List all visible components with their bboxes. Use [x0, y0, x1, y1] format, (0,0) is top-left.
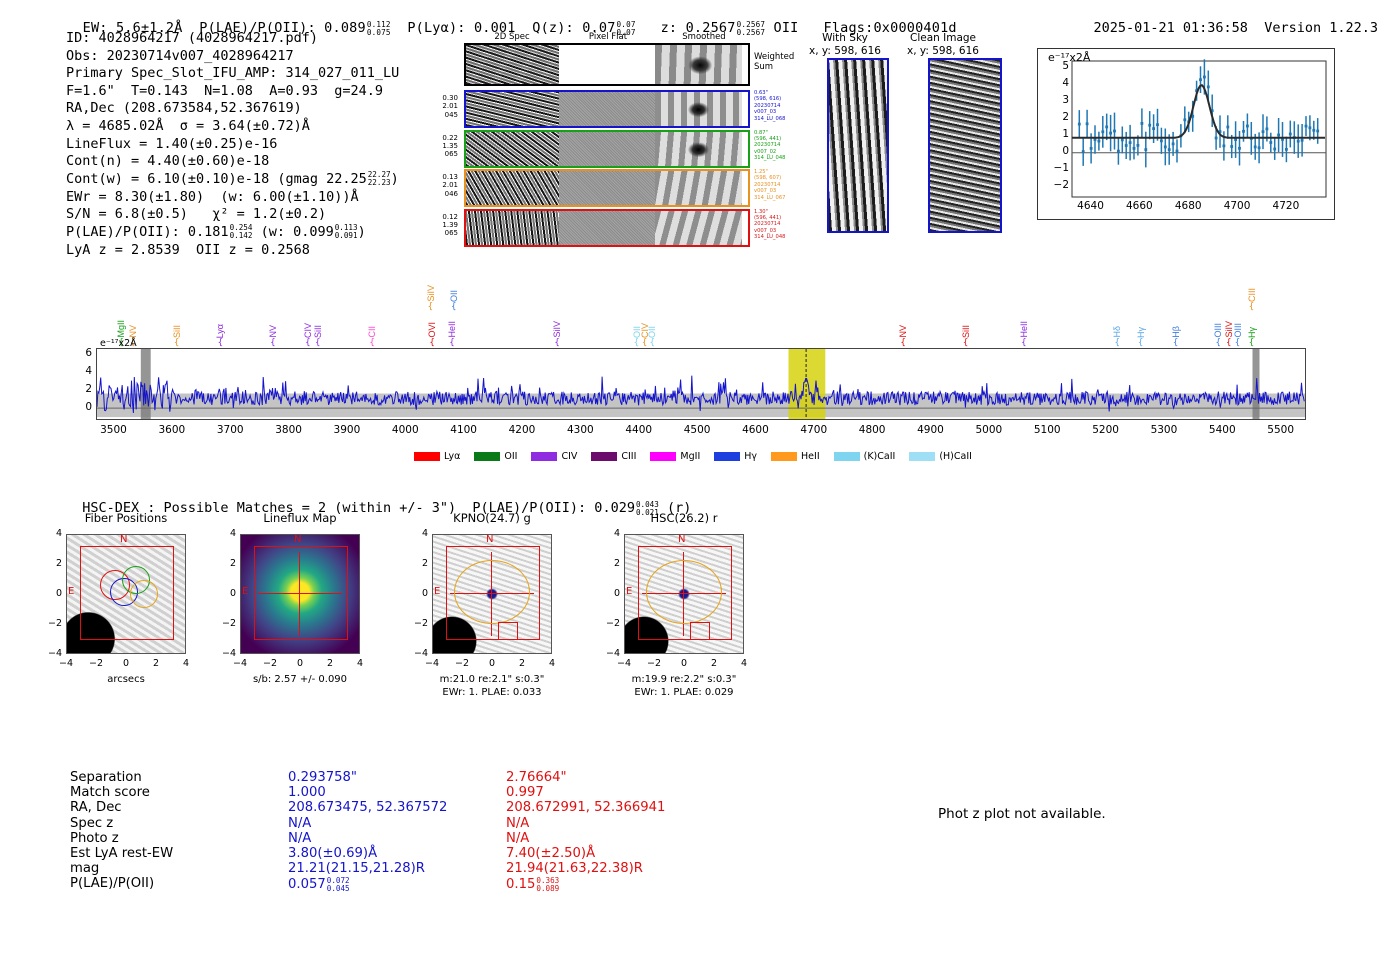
emission-line-bracket: { — [305, 338, 311, 348]
panel-y-tick: −2 — [412, 618, 428, 629]
panel-caption-secondary: EWr: 1. PLAE: 0.029 — [594, 687, 774, 700]
panel-image[interactable] — [432, 534, 552, 654]
spectrum-x-tick: 3700 — [206, 424, 254, 436]
fiber-right-labels: 0.87"(596, 441)20230714v007_02314_LU_048 — [754, 130, 814, 162]
row-value-blue: 1.000 — [288, 785, 506, 800]
row-label: RA, Dec — [70, 800, 288, 815]
legend-item: CIV — [531, 451, 577, 462]
photz-note: Phot z plot not available. — [938, 806, 1106, 822]
info-gmag-errors: 22.2722.23 — [368, 171, 391, 187]
line-fit-spectrum-plot[interactable]: e⁻¹⁷x2Å — [1037, 48, 1335, 220]
info-id: ID: 4028964217 (4028964217.pdf) — [66, 30, 399, 48]
fiber-pixelflat — [559, 132, 655, 166]
spectrum-x-tick: 4500 — [673, 424, 721, 436]
emission-line-bracket: { — [649, 338, 655, 348]
info-plae-errors: 0.2540.142 — [230, 224, 253, 240]
spectrum-x-tick: 3800 — [265, 424, 313, 436]
emission-line-bracket: { — [270, 338, 276, 348]
panel-x-tick: 0 — [286, 658, 314, 669]
spectrum-x-tick: 4700 — [790, 424, 838, 436]
emission-line-bracket: { — [1021, 338, 1027, 348]
info-plae: P(LAE)/P(OII): 0.1810.2540.142 (w: 0.099… — [66, 224, 399, 242]
fiber-left-label: 1.39 — [426, 221, 458, 229]
legend-label: (H)CaII — [939, 451, 972, 462]
spectrum-x-tick: 3600 — [148, 424, 196, 436]
info-cont-w: Cont(w) = 6.10(±0.10)e-18 (gmag 22.2522.… — [66, 171, 399, 189]
legend-swatch — [909, 452, 935, 461]
cutout-title-clean-image: Clean Imagex, y: 598, 616 — [898, 32, 988, 57]
info-seeing: F=1.6" T=0.143 N=1.08 A=0.93 g=24.9 — [66, 83, 399, 101]
emission-line-bracket: { — [449, 338, 455, 348]
emission-line-bracket: { — [1114, 338, 1120, 348]
row-label: Separation — [70, 770, 288, 785]
fiber-pixelflat — [559, 211, 655, 245]
fiber-right-label: 314_LU_067 — [754, 195, 814, 201]
info-plae-w-errors: 0.1130.091 — [335, 224, 358, 240]
spectrum-unit-label: e⁻¹⁷x2Å — [100, 338, 137, 349]
inset-y-tick: 4 — [1053, 77, 1069, 89]
spectrum-x-tick: 4300 — [556, 424, 604, 436]
panel-x-tick: −2 — [448, 658, 476, 669]
info-cont-n: Cont(n) = 4.40(±0.60)e-18 — [66, 153, 399, 171]
legend-item: MgII — [650, 451, 700, 462]
info-ewr: EWr = 8.30(±1.80) (w: 6.00(±1.10))Å — [66, 189, 399, 207]
row-value-blue: N/A — [288, 816, 506, 831]
panel-y-tick: 0 — [412, 588, 428, 599]
emission-line-label: CIII — [1248, 288, 1257, 302]
emission-line-label: CIV — [304, 323, 313, 338]
fiber-right-labels: 1.25"(598, 607)20230714v007_03314_LU_067 — [754, 169, 814, 201]
fiber-left-label: 2.01 — [426, 181, 458, 189]
legend-swatch — [414, 452, 440, 461]
legend-label: (K)CaII — [864, 451, 896, 462]
detection-info-block: ID: 4028964217 (4028964217.pdf) Obs: 202… — [66, 30, 399, 259]
fiber-left-label: 2.01 — [426, 102, 458, 110]
spec2d-fiber-row[interactable] — [464, 90, 750, 128]
row-value-blue: N/A — [288, 831, 506, 846]
legend-label: Hγ — [744, 451, 757, 462]
panel-caption: m:21.0 re:2.1" s:0.3" — [402, 674, 582, 687]
emission-line-label: CII — [368, 326, 377, 338]
spec2d-fiber-rows: 0.302.010450.63"(598, 616)20230714v007_0… — [464, 90, 754, 248]
legend-swatch — [650, 452, 676, 461]
panel-x-tick: 4 — [172, 658, 200, 669]
spectrum-x-tick: 4000 — [381, 424, 429, 436]
emission-line-label: NV — [129, 325, 138, 338]
panel-title: KPNO(24.7) g — [412, 512, 572, 525]
inset-y-tick: 0 — [1053, 145, 1069, 157]
emission-line-label: OII — [450, 290, 459, 302]
emission-line-label: SiII — [173, 325, 182, 338]
legend-label: CIV — [561, 451, 577, 462]
weighted-sum-smoothed — [655, 45, 742, 84]
spec2d-col-title-pixelflat: Pixel Flat — [560, 32, 656, 42]
panel-caption: m:19.9 re:2.2" s:0.3" — [594, 674, 774, 687]
info-lambda-sigma: λ = 4685.02Å σ = 3.64(±0.72)Å — [66, 118, 399, 136]
fiber-2dspec — [466, 132, 559, 166]
panel-x-tick: −2 — [640, 658, 668, 669]
panel-y-tick: −2 — [604, 618, 620, 629]
full-spectrum-svg — [97, 349, 1305, 419]
emission-line-bracket: { — [1173, 338, 1179, 348]
emission-line-bracket: { — [634, 338, 640, 348]
row-value-red: 0.997 — [506, 785, 665, 800]
inset-x-tick: 4640 — [1071, 200, 1111, 212]
fiber-right-labels: 1.30"(596, 441)20230714v007_03314_LU_048 — [754, 209, 814, 241]
legend-item: CIII — [591, 451, 636, 462]
fiber-divider — [742, 171, 748, 205]
spectrum-x-tick: 4800 — [848, 424, 896, 436]
row-label: Est LyA rest-EW — [70, 846, 288, 861]
fiber-left-label: 0.13 — [426, 173, 458, 181]
panel-x-tick: −4 — [418, 658, 446, 669]
row-value-red: 7.40(±2.50)Å — [506, 846, 665, 861]
row-label: Match score — [70, 785, 288, 800]
spectrum-x-tick: 5500 — [1257, 424, 1305, 436]
emission-line-bracket: { — [1249, 302, 1255, 312]
panel-image[interactable] — [240, 534, 360, 654]
fiber-left-label: 046 — [426, 190, 458, 198]
row-value-red: 0.150.3630.089 — [506, 876, 665, 892]
panel-x-tick: −4 — [52, 658, 80, 669]
table-row: Match score1.0000.997 — [70, 785, 665, 800]
emission-line-label: Hδ — [1113, 326, 1122, 338]
panel-image[interactable] — [624, 534, 744, 654]
spec2d-col-title-2dspec: 2D Spec — [464, 32, 560, 42]
table-row: Photo zN/AN/A — [70, 831, 665, 846]
fiber-pixelflat — [559, 171, 655, 205]
emission-line-bracket: { — [1138, 338, 1144, 348]
row-value-red: N/A — [506, 816, 665, 831]
panel-x-tick: 0 — [112, 658, 140, 669]
emission-line-label: Hβ — [1172, 326, 1181, 338]
emission-line-bracket: { — [428, 302, 434, 312]
emission-line-label: OIII — [1214, 323, 1223, 338]
panel-x-tick: 0 — [478, 658, 506, 669]
spec2d-fiber-row[interactable] — [464, 209, 750, 247]
fiber-left-label: 065 — [426, 150, 458, 158]
fiber-2dspec — [466, 92, 559, 126]
panel-caption-secondary: EWr: 1. PLAE: 0.033 — [402, 687, 582, 700]
panel-title: Fiber Positions — [46, 512, 206, 525]
fiber-left-label: 065 — [426, 229, 458, 237]
weighted-sum-pixelflat — [559, 45, 655, 84]
row-value-blue: 208.673475, 52.367572 — [288, 800, 506, 815]
spectrum-x-tick: 5300 — [1140, 424, 1188, 436]
fiber-divider — [742, 132, 748, 166]
legend-label: OII — [504, 451, 517, 462]
spectrum-x-tick: 4900 — [907, 424, 955, 436]
legend-swatch — [531, 452, 557, 461]
row-label: P(LAE)/P(OII) — [70, 876, 288, 892]
fiber-left-labels: 0.121.39065 — [426, 213, 458, 238]
panel-x-tick: −4 — [610, 658, 638, 669]
row-value-blue: 3.80(±0.69)Å — [288, 846, 506, 861]
panel-x-tick: −4 — [226, 658, 254, 669]
legend-swatch — [771, 452, 797, 461]
emission-line-bracket: { — [554, 338, 560, 348]
legend-item: (K)CaII — [834, 451, 896, 462]
table-row: mag21.21(21.15,21.28)R21.94(21.63,22.38)… — [70, 861, 665, 876]
spectrum-x-tick: 5400 — [1198, 424, 1246, 436]
emission-line-label: MgII — [117, 320, 126, 338]
info-lineflux: LineFlux = 1.40(±0.25)e-16 — [66, 136, 399, 154]
legend-item: Hγ — [714, 451, 757, 462]
legend-item: HeII — [771, 451, 820, 462]
emission-line-bracket: { — [174, 338, 180, 348]
panel-x-tick: 4 — [346, 658, 374, 669]
row-label: Photo z — [70, 831, 288, 846]
emission-line-label: NV — [269, 325, 278, 338]
info-radec: RA,Dec (208.673584,52.367619) — [66, 100, 399, 118]
emission-line-bracket: { — [1215, 338, 1221, 348]
panel-image[interactable] — [66, 534, 186, 654]
inset-x-tick: 4660 — [1119, 200, 1159, 212]
row-label: mag — [70, 861, 288, 876]
emission-line-label: SiII — [962, 325, 971, 338]
spec2d-fiber-row[interactable] — [464, 169, 750, 207]
panel-y-tick: 2 — [604, 558, 620, 569]
spectrum-y-tick: 0 — [76, 401, 92, 413]
info-obs: Obs: 20230714v007_4028964217 — [66, 48, 399, 66]
panel-caption: s/b: 2.57 +/- 0.090 — [210, 674, 390, 687]
emission-line-bracket: { — [217, 338, 223, 348]
legend-label: MgII — [680, 451, 700, 462]
cutout-clean-image[interactable] — [928, 58, 1002, 233]
weighted-sum-divider — [742, 45, 748, 84]
spectrum-y-tick: 4 — [76, 365, 92, 377]
inset-x-tick: 4700 — [1217, 200, 1257, 212]
table-row: Est LyA rest-EW3.80(±0.69)Å7.40(±2.50)Å — [70, 846, 665, 861]
spectrum-x-tick: 5100 — [1023, 424, 1071, 436]
header-timestamp-version: 2025-01-21 01:36:58 Version 1.22.3 — [1077, 4, 1378, 36]
panel-y-tick: 4 — [46, 528, 62, 539]
inset-y-tick: −2 — [1053, 179, 1069, 191]
panel-x-tick: 2 — [700, 658, 728, 669]
panel-y-tick: 2 — [220, 558, 236, 569]
row-value-blue: 21.21(21.15,21.28)R — [288, 861, 506, 876]
fiber-right-labels: 0.63"(598, 616)20230714v007_03314_LU_068 — [754, 90, 814, 122]
info-primary-spec: Primary Spec_Slot_IFU_AMP: 314_027_011_L… — [66, 65, 399, 83]
fiber-right-label: 314_LU_048 — [754, 155, 814, 161]
emission-line-label: HeII — [448, 321, 457, 338]
spectrum-x-tick: 4400 — [615, 424, 663, 436]
fiber-left-label: 0.12 — [426, 213, 458, 221]
panel-x-tick: 2 — [316, 658, 344, 669]
inset-y-tick: 1 — [1053, 128, 1069, 140]
emission-line-label: OVI — [428, 322, 437, 338]
row-value-blue: 0.293758" — [288, 770, 506, 785]
cutout-title-with-sky: With Skyx, y: 598, 616 — [800, 32, 890, 57]
row-value-red: 2.76664" — [506, 770, 665, 785]
spec2d-fiber-row[interactable] — [464, 130, 750, 168]
fiber-left-label: 0.30 — [426, 94, 458, 102]
emission-line-bracket: { — [315, 338, 321, 348]
fiber-right-label: 314_LU_068 — [754, 116, 814, 122]
emission-line-bracket: { — [642, 338, 648, 348]
legend-item: OII — [474, 451, 517, 462]
emission-line-label: Hγ — [1248, 327, 1257, 338]
legend-item: Lyα — [414, 451, 460, 462]
fiber-left-label: 045 — [426, 111, 458, 119]
emission-line-label: Lyα — [216, 324, 225, 338]
weighted-sum-2dspec — [466, 45, 559, 84]
panel-y-tick: 0 — [220, 588, 236, 599]
panel-caption: arcsecs — [36, 674, 216, 687]
fiber-left-label: 1.35 — [426, 142, 458, 150]
full-spectrum-plot[interactable] — [96, 348, 1306, 420]
spectrum-y-tick: 6 — [76, 347, 92, 359]
panel-y-tick: 4 — [412, 528, 428, 539]
table-row: P(LAE)/P(OII)0.0570.0720.0450.150.3630.0… — [70, 876, 665, 892]
fiber-smoothed — [655, 171, 742, 205]
timestamp: 2025-01-21 01:36:58 — [1094, 20, 1248, 36]
panel-y-tick: −2 — [220, 618, 236, 629]
info-sn-chi2: S/N = 6.8(±0.5) χ² = 1.2(±0.2) — [66, 206, 399, 224]
spectrum-y-tick: 2 — [76, 383, 92, 395]
panel-y-tick: 4 — [604, 528, 620, 539]
emission-line-bracket: { — [900, 338, 906, 348]
fiber-left-labels: 0.302.01045 — [426, 94, 458, 119]
emission-line-labels: MgII{NV{SiII{Lyα{NV{CIV{SiII{CII{SiIV{OV… — [0, 272, 1400, 348]
panel-x-tick: 4 — [538, 658, 566, 669]
fiber-smoothed — [655, 132, 742, 166]
spectrum-x-tick: 4200 — [498, 424, 546, 436]
legend-swatch — [714, 452, 740, 461]
panel-y-tick: 2 — [46, 558, 62, 569]
emission-line-label: NV — [899, 325, 908, 338]
inset-y-tick: 3 — [1053, 94, 1069, 106]
match-properties-table: Separation0.293758"2.76664"Match score1.… — [70, 770, 665, 893]
spectrum-x-tick: 5200 — [1082, 424, 1130, 436]
panel-x-tick: 4 — [730, 658, 758, 669]
fiber-divider — [742, 92, 748, 126]
legend-swatch — [474, 452, 500, 461]
emission-line-label: OII — [648, 326, 657, 338]
row-value-red: 21.94(21.63,22.38)R — [506, 861, 665, 876]
panel-x-tick: −2 — [82, 658, 110, 669]
spec2d-weighted-sum-label: Weighted Sum — [754, 52, 794, 72]
fiber-2dspec — [466, 171, 559, 205]
fiber-2dspec — [466, 211, 559, 245]
panel-x-tick: 0 — [670, 658, 698, 669]
inset-x-tick: 4680 — [1168, 200, 1208, 212]
emission-line-label: SiII — [314, 325, 323, 338]
table-row: Separation0.293758"2.76664" — [70, 770, 665, 785]
emission-line-bracket: { — [1249, 338, 1255, 348]
panel-y-tick: 0 — [46, 588, 62, 599]
legend-label: CIII — [621, 451, 636, 462]
spectrum-x-tick: 4100 — [440, 424, 488, 436]
spectrum-x-tick: 3500 — [90, 424, 138, 436]
panel-y-tick: 2 — [412, 558, 428, 569]
fiber-left-label: 0.22 — [426, 134, 458, 142]
emission-line-bracket: { — [963, 338, 969, 348]
spec2d-weighted-sum-row — [464, 43, 750, 86]
panel-x-tick: −2 — [256, 658, 284, 669]
row-value-red: 208.672991, 52.366941 — [506, 800, 665, 815]
panel-x-tick: 2 — [508, 658, 536, 669]
panel-y-tick: 4 — [220, 528, 236, 539]
fiber-right-label: 314_LU_048 — [754, 234, 814, 240]
line-fit-svg — [1038, 49, 1334, 219]
fiber-smoothed — [655, 211, 742, 245]
fiber-left-labels: 0.132.01046 — [426, 173, 458, 198]
row-value-red: N/A — [506, 831, 665, 846]
table-row: RA, Dec208.673475, 52.367572208.672991, … — [70, 800, 665, 815]
emission-line-legend: LyαOIICIVCIIIMgIIHγHeII(K)CaII(H)CaII — [0, 446, 1400, 465]
inset-x-tick: 4720 — [1266, 200, 1306, 212]
panel-y-tick: −2 — [46, 618, 62, 629]
spectrum-x-tick: 4600 — [731, 424, 779, 436]
emission-line-label: SiIV — [553, 321, 562, 338]
emission-line-bracket: { — [451, 302, 457, 312]
fiber-left-labels: 0.221.35065 — [426, 134, 458, 159]
fiber-pixelflat — [559, 92, 655, 126]
emission-line-label: Hγ — [1137, 327, 1146, 338]
legend-label: Lyα — [444, 451, 460, 462]
inset-y-tick: −1 — [1053, 162, 1069, 174]
emission-line-label: HeII — [1020, 321, 1029, 338]
emission-line-bracket: { — [1235, 338, 1241, 348]
panel-x-tick: 2 — [142, 658, 170, 669]
legend-item: (H)CaII — [909, 451, 972, 462]
cutout-panel-row: Fiber PositionsNE 420−2−4−4−2024arcsecsL… — [0, 512, 1400, 732]
panel-title: HSC(26.2) r — [604, 512, 764, 525]
spectrum-x-tick: 5000 — [965, 424, 1013, 436]
emission-line-label: SiIV — [427, 285, 436, 302]
info-redshifts: LyA z = 2.8539 OII z = 0.2568 — [66, 242, 399, 260]
inset-y-tick: 5 — [1053, 60, 1069, 72]
table-row: Spec zN/AN/A — [70, 816, 665, 831]
legend-swatch — [591, 452, 617, 461]
legend-label: HeII — [801, 451, 820, 462]
header-z-type: OII — [774, 20, 799, 36]
spec2d-col-title-smoothed: Smoothed — [656, 32, 752, 42]
cutout-with-sky[interactable] — [827, 58, 889, 233]
emission-line-bracket: { — [369, 338, 375, 348]
row-value-blue: 0.0570.0720.045 — [288, 876, 506, 892]
panel-title: Lineflux Map — [220, 512, 380, 525]
emission-line-bracket: { — [429, 338, 435, 348]
row-label: Spec z — [70, 816, 288, 831]
inset-y-tick: 2 — [1053, 111, 1069, 123]
spectrum-x-tick: 3900 — [323, 424, 371, 436]
panel-y-tick: 0 — [604, 588, 620, 599]
fiber-divider — [742, 211, 748, 245]
version: Version 1.22.3 — [1264, 20, 1378, 36]
fiber-smoothed — [655, 92, 742, 126]
legend-swatch — [834, 452, 860, 461]
emission-line-label: OIII — [1234, 323, 1243, 338]
emission-line-bracket: { — [1226, 338, 1232, 348]
